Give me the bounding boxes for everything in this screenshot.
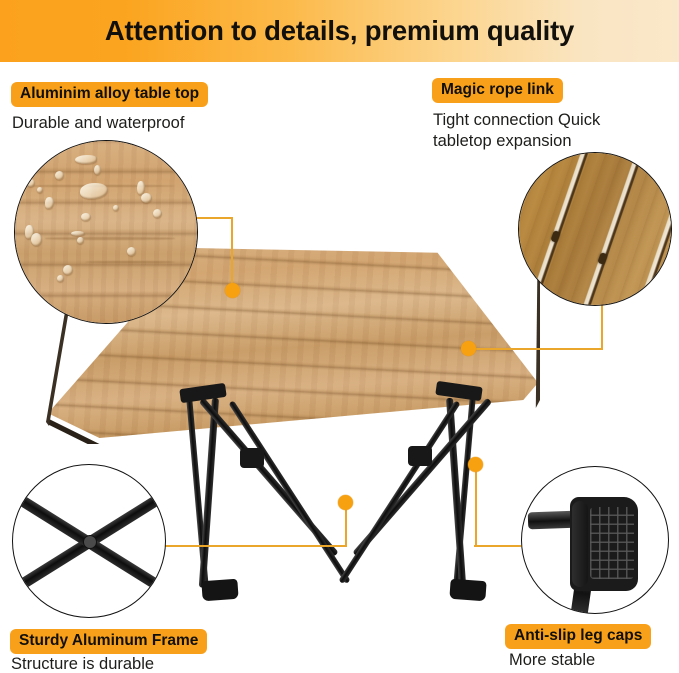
callout-badge-leg-caps[interactable]: Anti-slip leg caps (505, 624, 651, 649)
inset-circle-frame (12, 464, 166, 618)
header-banner: Attention to details, premium quality (0, 0, 679, 62)
connector-bottom-left-vertical (345, 506, 347, 546)
callout-dot-frame (338, 495, 353, 510)
callout-dot-leg-caps (468, 457, 483, 472)
callout-text-frame: Structure is durable (11, 654, 154, 673)
callout-dot-rope-link (461, 341, 476, 356)
callout-badge-rope-link[interactable]: Magic rope link (432, 78, 563, 103)
leg-front-left (199, 398, 219, 588)
callout-dot-table-top (225, 283, 240, 298)
leg-rear-right (453, 394, 476, 590)
inset-circle-table-top (14, 140, 198, 324)
connector-top-right-horizontal (472, 348, 603, 350)
water-droplet (75, 155, 97, 164)
callout-text-leg-caps: More stable (509, 650, 595, 671)
callout-text-rope-link: Tight connection Quick tabletop expansio… (433, 110, 600, 152)
connector-bottom-left-horizontal (163, 545, 347, 547)
inset-circle-rope-link (518, 152, 672, 306)
leg-rear-left (186, 396, 209, 592)
bracket-mid-right (408, 446, 432, 466)
connector-top-right-vertical (601, 303, 603, 349)
connector-top-left-vertical (231, 217, 233, 289)
foot-right (449, 579, 486, 601)
leg-cap-highlight (572, 501, 588, 587)
foot-left (201, 579, 238, 601)
water-droplet (63, 265, 73, 275)
water-droplet (27, 179, 35, 187)
water-droplet (37, 187, 43, 193)
frame-center-hub (83, 535, 97, 549)
callout-text-table-top: Durable and waterproof (12, 113, 184, 134)
bracket-left (179, 383, 227, 403)
leg-cap-tread-pattern (590, 507, 634, 579)
callout-badge-table-top[interactable]: Aluminim alloy table top (11, 82, 208, 107)
page-title: Attention to details, premium quality (105, 15, 574, 47)
infographic-page: Attention to details, premium quality (0, 0, 679, 673)
water-droplet (57, 275, 64, 282)
wood-grain-diagonal (518, 152, 672, 306)
water-droplet (127, 247, 136, 256)
wood-grain-horizontal (15, 141, 197, 323)
bracket-right (435, 381, 483, 401)
water-droplet (55, 171, 64, 180)
water-droplet (77, 237, 84, 244)
callout-badge-frame[interactable]: Sturdy Aluminum Frame (10, 629, 207, 654)
water-droplet (81, 213, 91, 221)
inset-circle-leg-caps (521, 466, 669, 614)
water-droplet (153, 209, 162, 218)
connector-bottom-right-horizontal (474, 545, 521, 547)
water-droplet (94, 165, 101, 175)
cross-brace-center-b (338, 400, 460, 584)
cross-brace-right-down (352, 398, 492, 557)
water-droplet (31, 233, 42, 246)
connector-top-left-horizontal (196, 217, 232, 219)
bracket-mid-left (240, 448, 264, 468)
leg-front-right (446, 398, 466, 588)
water-droplet (113, 205, 119, 211)
connector-bottom-right-vertical (475, 468, 477, 546)
water-droplet (71, 231, 85, 236)
cross-brace-center-a (228, 400, 350, 584)
cross-brace-left-down (199, 398, 339, 557)
water-droplet (141, 193, 152, 203)
